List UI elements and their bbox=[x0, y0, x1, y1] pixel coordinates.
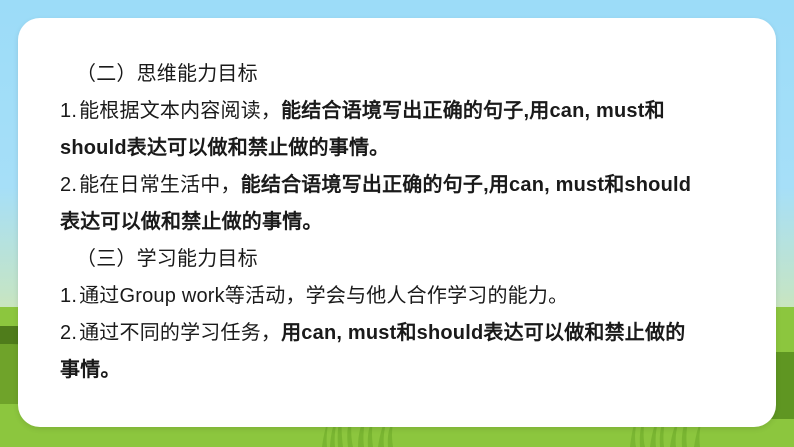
objective-b1-bold: 能结合语境写出正确的句子,用can, must和 bbox=[281, 100, 665, 122]
section-heading-thinking: （二）思维能力目标 bbox=[60, 56, 750, 93]
objective-c1-number: 1. bbox=[60, 285, 77, 307]
objective-c1-normal: 通过Group work等活动，学会与他人合作学习的能力。 bbox=[77, 285, 568, 307]
objective-b2-normal: 能在日常生活中， bbox=[77, 174, 241, 196]
objective-b1-number: 1. bbox=[60, 100, 77, 122]
lesson-objectives-body: （二）思维能力目标 1.能根据文本内容阅读，能结合语境写出正确的句子,用can,… bbox=[60, 56, 750, 389]
objective-c2-normal: 通过不同的学习任务， bbox=[77, 322, 281, 344]
objective-b2-number: 2. bbox=[60, 174, 77, 196]
objective-c1: 1.通过Group work等活动，学会与他人合作学习的能力。 bbox=[60, 278, 750, 315]
white-content-card: （二）思维能力目标 1.能根据文本内容阅读，能结合语境写出正确的句子,用can,… bbox=[18, 18, 776, 427]
section-heading-learning: （三）学习能力目标 bbox=[60, 241, 750, 278]
objective-b1-normal: 能根据文本内容阅读， bbox=[77, 100, 281, 122]
objective-b1: 1.能根据文本内容阅读，能结合语境写出正确的句子,用can, must和 bbox=[60, 93, 750, 130]
objective-c2-number: 2. bbox=[60, 322, 77, 344]
objective-c2-bold: 用can, must和should表达可以做和禁止做的 bbox=[281, 322, 685, 344]
objective-c2-wrap: 事情。 bbox=[60, 352, 750, 389]
objective-b1-wrap: should表达可以做和禁止做的事情。 bbox=[60, 130, 750, 167]
objective-c2: 2.通过不同的学习任务，用can, must和should表达可以做和禁止做的 bbox=[60, 315, 750, 352]
slide-root: （二）思维能力目标 1.能根据文本内容阅读，能结合语境写出正确的句子,用can,… bbox=[0, 0, 794, 447]
objective-b2: 2.能在日常生活中，能结合语境写出正确的句子,用can, must和should bbox=[60, 167, 750, 204]
objective-b2-wrap: 表达可以做和禁止做的事情。 bbox=[60, 204, 750, 241]
objective-b2-bold: 能结合语境写出正确的句子,用can, must和should bbox=[241, 174, 691, 196]
